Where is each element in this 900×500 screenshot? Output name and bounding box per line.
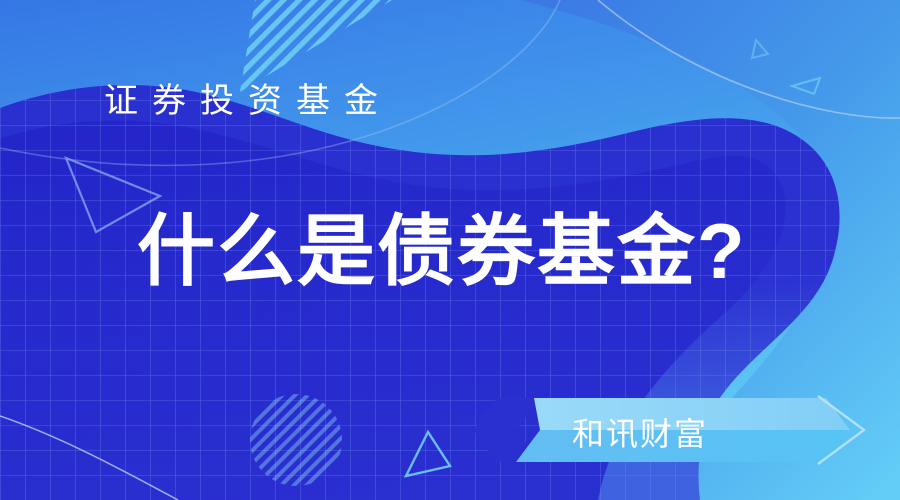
poster-canvas: 证券投资基金 什么是债券基金? 和讯财富	[0, 0, 900, 500]
page-title: 什么是债券基金?	[137, 203, 747, 299]
poster-text-layer: 证券投资基金 什么是债券基金? 和讯财富	[0, 0, 900, 500]
brand-badge-label: 和讯财富	[572, 412, 708, 456]
poster-subtitle: 证券投资基金	[104, 79, 392, 123]
